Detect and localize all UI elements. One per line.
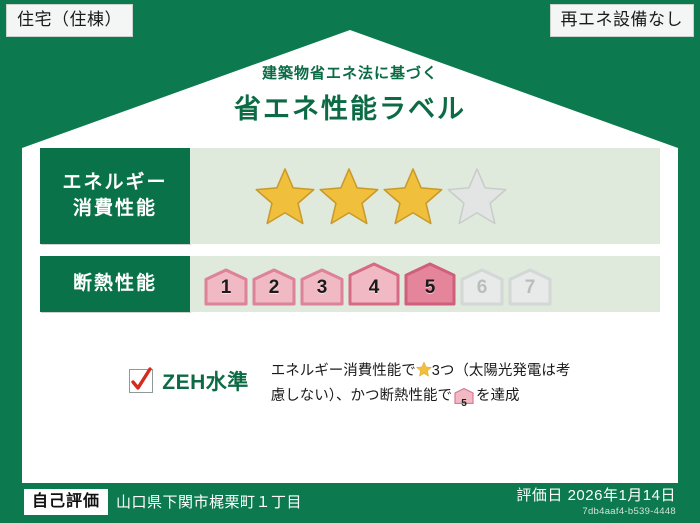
label-hash-id: 7db4aaf4-b539-4448: [516, 506, 676, 517]
insulation-level-scale: 1234567: [204, 262, 552, 306]
check-icon: [128, 366, 154, 394]
star-icon-empty: [446, 166, 508, 226]
row-insulation-performance: 断熱性能 1234567: [40, 256, 660, 312]
insulation-level-number: 4: [348, 277, 400, 299]
row-energy-performance: エネルギー 消費性能: [40, 148, 660, 244]
insulation-level-number: 1: [204, 277, 248, 299]
star-icon-inline: [416, 361, 432, 385]
row-energy-value: [190, 148, 660, 244]
property-address: 山口県下関市梶栗町１丁目: [116, 491, 302, 512]
insulation-level-1: 1: [204, 268, 248, 306]
row-energy-label-line1: エネルギー: [62, 170, 167, 196]
insulation-level-6: 6: [460, 268, 504, 306]
energy-label-root: 住宅（住棟） 再エネ設備なし 建築物省エネ法に基づく 省エネ性能ラベル エネルギ…: [0, 0, 700, 523]
star-rating: [254, 166, 508, 226]
rating-rows: エネルギー 消費性能 断熱性能 1234567: [40, 148, 660, 324]
footer-right-group: 評価日 2026年1月14日 7db4aaf4-b539-4448: [516, 486, 676, 518]
star-icon-filled: [382, 166, 444, 226]
insulation-level-number: 6: [460, 277, 504, 299]
zeh-desc-inline-level: 5: [454, 396, 474, 412]
zeh-desc-line2-b: を達成: [476, 388, 520, 404]
footer-left-group: 自己評価 山口県下関市梶栗町１丁目: [24, 489, 302, 515]
zeh-desc-line1-b: 3つ（太陽光発電: [432, 363, 542, 379]
self-evaluation-badge: 自己評価: [24, 489, 108, 515]
insulation-level-number: 5: [404, 277, 456, 299]
house-level-icon-inline: 5: [454, 388, 474, 412]
insulation-level-5: 5: [404, 262, 456, 306]
zeh-section: ZEH水準 エネルギー消費性能で 3つ（太陽光発電は考慮しない）、かつ断熱性能で…: [0, 360, 700, 413]
row-energy-label-line2: 消費性能: [73, 196, 157, 222]
building-type-tag: 住宅（住棟）: [6, 4, 133, 37]
zeh-desc-line1-a: エネルギー消費性能で: [271, 363, 416, 379]
insulation-level-number: 7: [508, 277, 552, 299]
house-roof-shape: [22, 30, 678, 152]
renewable-equipment-tag: 再エネ設備なし: [550, 4, 695, 37]
insulation-level-2: 2: [252, 268, 296, 306]
star-icon-filled: [318, 166, 380, 226]
zeh-title: ZEH水準: [162, 366, 249, 396]
zeh-check-group: ZEH水準: [129, 366, 249, 396]
evaluation-date: 評価日 2026年1月14日: [516, 486, 676, 506]
row-insulation-value: 1234567: [190, 256, 660, 312]
insulation-level-number: 2: [252, 277, 296, 299]
row-insulation-label: 断熱性能: [40, 256, 190, 312]
row-insulation-label-line1: 断熱性能: [73, 271, 157, 297]
row-energy-label: エネルギー 消費性能: [40, 148, 190, 244]
insulation-level-3: 3: [300, 268, 344, 306]
zeh-checkbox[interactable]: [129, 369, 153, 393]
zeh-description: エネルギー消費性能で 3つ（太陽光発電は考慮しない）、かつ断熱性能で 5 を達成: [271, 360, 571, 413]
label-footer: 自己評価 山口県下関市梶栗町１丁目 評価日 2026年1月14日 7db4aaf…: [0, 481, 700, 523]
insulation-level-4: 4: [348, 262, 400, 306]
insulation-level-7: 7: [508, 268, 552, 306]
star-icon-filled: [254, 166, 316, 226]
insulation-level-number: 3: [300, 277, 344, 299]
